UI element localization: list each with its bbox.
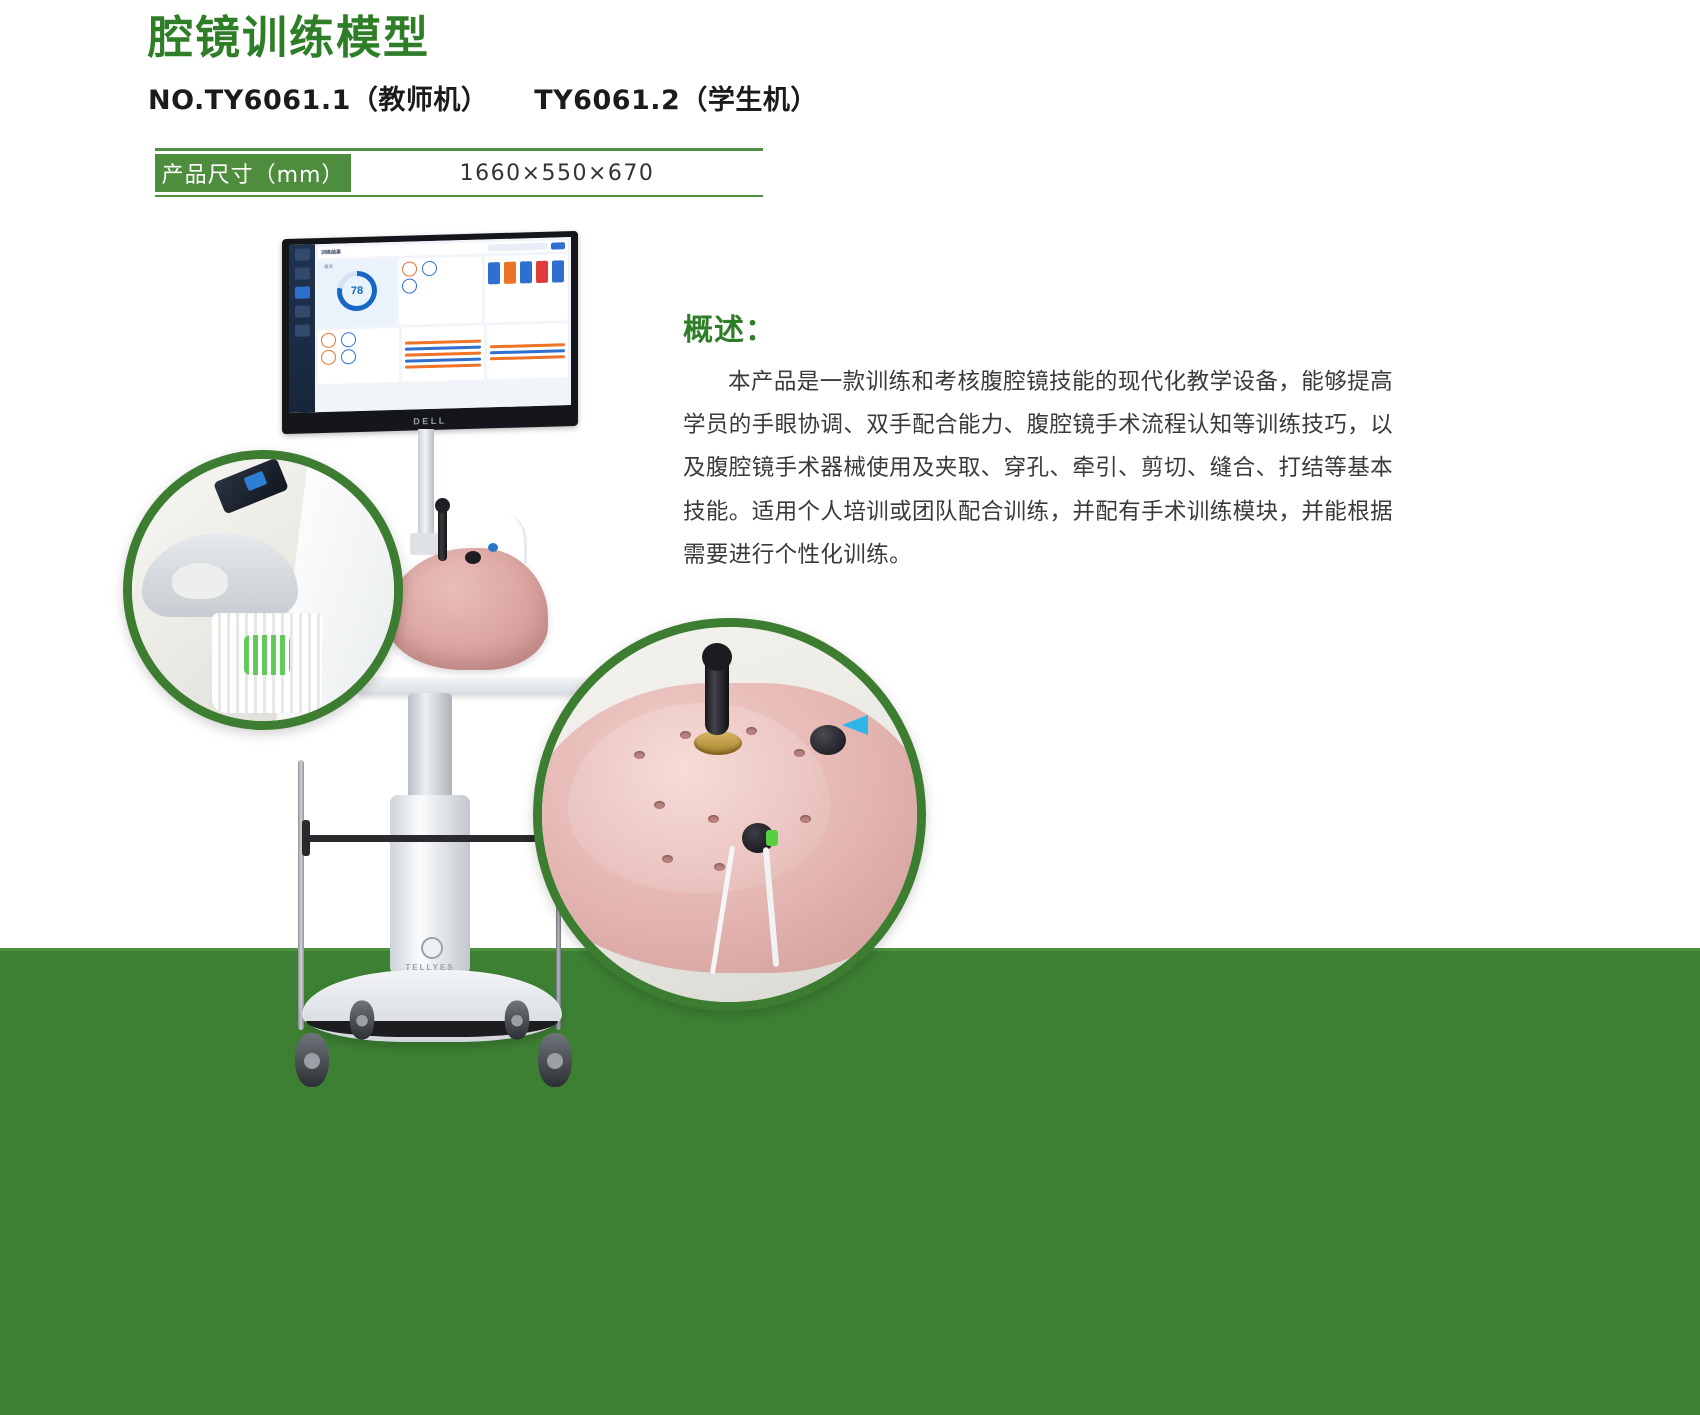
ring-group-a: [402, 260, 479, 277]
student-info-pill: [488, 243, 548, 252]
dashboard-bottom-row: [318, 323, 568, 384]
monitor: 训练结果 总分 78: [282, 235, 578, 430]
spec-rule-bottom: [155, 195, 763, 197]
spec-value: 1660×550×670: [351, 154, 763, 192]
kpi-bar: [520, 261, 532, 283]
ring-group-d: [321, 348, 396, 365]
chart-bar: [405, 351, 480, 356]
metric-ring-icon: [402, 278, 417, 293]
trocar-hole: [654, 801, 665, 809]
caster-wheel: [505, 1001, 529, 1040]
trocar-hole: [746, 727, 757, 735]
page-header: 腔镜训练模型 NO.TY6061.1（教师机） TY6061.2（学生机）: [148, 12, 1148, 117]
model-student: TY6061.2（学生机）: [534, 85, 818, 116]
abdominal-trainer-torso: [386, 548, 548, 670]
trocar-handle: [435, 498, 450, 513]
chart-bar: [405, 339, 480, 344]
trocar-port-knob: [465, 551, 481, 564]
model-teacher: NO.TY6061.1（教师机）: [148, 85, 488, 116]
metric-ring-icon: [402, 261, 417, 276]
spec-table: 产品尺寸（mm） 1660×550×670: [155, 148, 763, 197]
chart-bar: [490, 355, 565, 360]
monitor-screen: 训练结果 总分 78: [289, 237, 571, 413]
tray-cutout: [172, 563, 228, 599]
monitor-neck: [418, 429, 434, 539]
inset-valve-knob: [810, 725, 846, 755]
caster-wheel: [350, 1001, 374, 1040]
trocar-hole: [680, 731, 691, 739]
metric-ring-icon: [341, 332, 356, 347]
home-icon[interactable]: [295, 248, 310, 260]
metric-ring-icon: [321, 350, 336, 365]
catalog-page: 腔镜训练模型 NO.TY6061.1（教师机） TY6061.2（学生机） 产品…: [0, 0, 1700, 1415]
detail-inset-right: [533, 618, 926, 1011]
caster-hub: [304, 1053, 320, 1069]
users-icon[interactable]: [295, 267, 310, 279]
kpi-bar: [552, 260, 564, 282]
trocar-hole: [634, 751, 645, 759]
sub-score-card: [318, 328, 399, 384]
overview-section: 概述： 本产品是一款训练和考核腹腔镜技能的现代化教学设备，能够提高学员的手眼协调…: [683, 305, 1393, 577]
crossbar: [306, 835, 558, 842]
spec-rule-top: [155, 148, 763, 151]
trocar-hole: [794, 749, 805, 757]
model-numbers: NO.TY6061.1（教师机） TY6061.2（学生机）: [148, 78, 1148, 117]
caster-hub: [547, 1053, 563, 1069]
bar-chart-right: [487, 323, 568, 379]
report-icon[interactable]: [295, 305, 310, 317]
ring-group-b: [402, 277, 479, 294]
score-label: 总分: [324, 264, 333, 270]
spec-label: 产品尺寸（mm）: [155, 154, 351, 192]
dashboard-page-title: 训练结果: [321, 248, 341, 256]
metric-ring-icon: [422, 261, 437, 276]
chart-bar: [405, 357, 480, 362]
ring-group-c: [321, 331, 396, 348]
training-dashboard: 训练结果 总分 78: [289, 237, 571, 413]
page-title: 腔镜训练模型: [148, 12, 1148, 64]
score-card: 总分 78: [318, 259, 396, 327]
trocar-hole: [800, 815, 811, 823]
chart-bar: [490, 343, 565, 348]
dashboard-sidebar: [289, 244, 315, 413]
tubing: [494, 515, 527, 563]
detail-inset-left: [123, 450, 403, 730]
chart-bar: [405, 363, 480, 368]
kpi-bar: [504, 262, 516, 284]
settings-gear-icon[interactable]: [295, 324, 310, 336]
trocar-hole: [662, 855, 673, 863]
caster-wheel: [538, 1033, 572, 1087]
crossbar-arm-left: [302, 820, 310, 856]
dashboard-main: 训练结果 总分 78: [315, 237, 571, 412]
lift-column-upper: [408, 693, 452, 801]
metric-ring-icon: [321, 333, 336, 348]
kpi-bar: [488, 262, 500, 284]
inset-trocar-handle: [702, 643, 732, 671]
chart-bar: [490, 349, 565, 354]
results-icon[interactable]: [295, 286, 310, 298]
caster-hub: [511, 1015, 523, 1027]
accessory-rod-left: [298, 760, 304, 1030]
caster-hub: [356, 1015, 368, 1027]
overview-heading: 概述：: [683, 305, 1393, 349]
chart-bar: [405, 345, 480, 350]
trocar-hole: [714, 863, 725, 871]
table-row: 产品尺寸（mm） 1660×550×670: [155, 154, 763, 192]
bar-chart-left: [402, 326, 483, 382]
dashboard-top-row: 总分 78: [318, 254, 568, 327]
scanner-led-icon: [244, 471, 268, 491]
caster-wheel: [295, 1033, 329, 1087]
metric-rings-card: [399, 257, 482, 325]
kpi-card: [485, 254, 568, 322]
power-button-icon[interactable]: [421, 937, 443, 959]
port-green-indicator: [766, 830, 778, 846]
trocar-hole: [708, 815, 719, 823]
score-gauge: 78: [337, 270, 377, 311]
metric-ring-icon: [341, 349, 356, 364]
export-button[interactable]: [551, 242, 565, 249]
basket-green-accent: [244, 635, 290, 675]
overview-body: 本产品是一款训练和考核腹腔镜技能的现代化教学设备，能够提高学员的手眼协调、双手配…: [683, 361, 1393, 577]
score-value: 78: [342, 276, 372, 307]
kpi-bar: [536, 261, 548, 283]
